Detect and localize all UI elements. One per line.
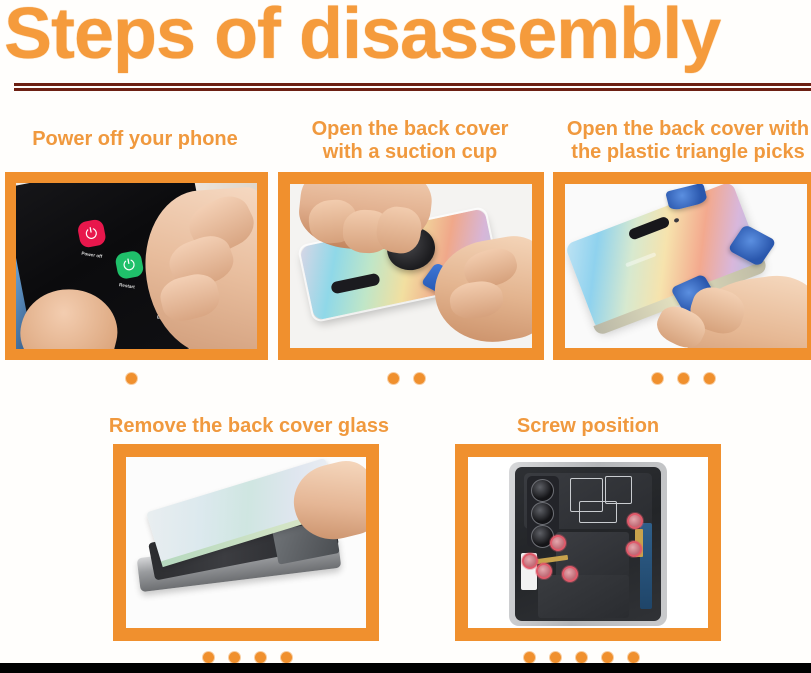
step-3-dots <box>652 373 715 384</box>
step-dot <box>576 652 587 663</box>
disassembly-guide-page: Steps of disassembly Power off your phon… <box>0 0 811 673</box>
step-dot <box>678 373 689 384</box>
camera-lens <box>531 502 554 525</box>
camera-module <box>628 216 670 241</box>
restart-label: Restart <box>118 283 144 292</box>
step-dot <box>388 373 399 384</box>
step-1-caption: Power off your phone <box>6 128 264 151</box>
restart-menu-item: ⏻ Restart <box>114 250 146 287</box>
step-4-photo-inner <box>126 457 366 628</box>
step-3-caption: Open the back cover with the plastic tri… <box>548 118 811 164</box>
step-2-caption: Open the back cover with a suction cup <box>280 118 540 164</box>
power-off-label: Power off <box>80 251 106 260</box>
page-title: Steps of disassembly <box>0 0 811 82</box>
step-5-dots <box>524 652 639 663</box>
step-4-dots <box>203 652 292 663</box>
screw-marker[interactable] <box>550 535 566 551</box>
step-dot <box>652 373 663 384</box>
screw-position-photo <box>468 457 708 628</box>
screw-marker[interactable] <box>536 563 552 579</box>
step-1-photo-frame: ⏻ Power off ⏻ Restart ⚠ Emergency mode O… <box>5 172 268 360</box>
triangle-picks-on-back-cover-photo <box>565 184 807 348</box>
step-dot <box>281 652 292 663</box>
phone-power-off-menu-photo: ⏻ Power off ⏻ Restart ⚠ Emergency mode O… <box>16 183 257 349</box>
title-divider <box>14 83 811 91</box>
step-4-caption-line-1: Remove the back cover glass <box>84 415 414 438</box>
step-dot <box>255 652 266 663</box>
step-4-photo-frame <box>113 444 379 641</box>
step-dot <box>414 373 425 384</box>
step-dot <box>704 373 715 384</box>
step-2-caption-line-2: with a suction cup <box>280 141 540 164</box>
step-dot <box>602 652 613 663</box>
step-dot <box>203 652 214 663</box>
step-2-dots <box>388 373 425 384</box>
remove-back-cover-glass-photo <box>126 457 366 628</box>
step-3-caption-line-1: Open the back cover with <box>548 118 811 141</box>
step-1-dots <box>126 373 137 384</box>
step-5-photo-inner <box>468 457 708 628</box>
step-1-caption-line-1: Power off your phone <box>6 128 264 151</box>
step-2-photo-inner <box>290 184 532 348</box>
step-3-photo-inner <box>565 184 807 348</box>
page-title-band: Steps of disassembly <box>0 0 811 82</box>
brand-logo <box>625 252 657 268</box>
phone-midframe <box>509 462 667 626</box>
step-3-caption-line-2: the plastic triangle picks <box>548 141 811 164</box>
bottom-black-bar <box>0 663 811 673</box>
step-5-caption: Screw position <box>455 415 721 438</box>
battery-lower <box>538 575 628 618</box>
suction-cup-on-back-cover-photo <box>290 184 532 348</box>
screw-marker[interactable] <box>562 566 578 582</box>
step-3-photo-frame <box>553 172 811 360</box>
step-dot <box>628 652 639 663</box>
step-1-photo-inner: ⏻ Power off ⏻ Restart ⚠ Emergency mode O… <box>16 183 257 349</box>
power-off-menu-item: ⏻ Power off <box>76 219 108 256</box>
step-4-caption: Remove the back cover glass <box>84 415 414 438</box>
camera-lens <box>531 479 554 502</box>
step-dot <box>126 373 137 384</box>
step-dot <box>229 652 240 663</box>
step-5-photo-frame <box>455 444 721 641</box>
sensor-dot <box>673 217 680 223</box>
power-icon: ⏻ <box>76 219 106 249</box>
phone-internals <box>515 467 661 621</box>
step-dot <box>524 652 535 663</box>
restart-icon: ⏻ <box>114 250 144 280</box>
step-2-photo-frame <box>278 172 544 360</box>
divider-line-bottom <box>14 88 811 91</box>
step-2-caption-line-1: Open the back cover <box>280 118 540 141</box>
step-5-caption-line-1: Screw position <box>455 415 721 438</box>
screw-marker[interactable] <box>626 541 642 557</box>
step-dot <box>550 652 561 663</box>
